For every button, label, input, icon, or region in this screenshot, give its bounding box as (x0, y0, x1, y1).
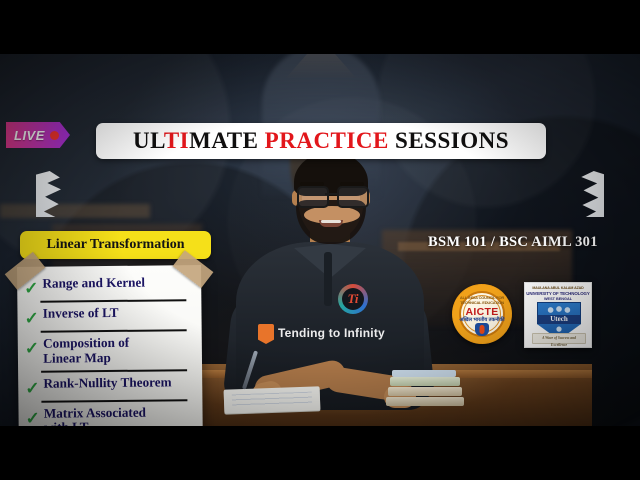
course-code: BSM 101 / BSC AIML 301 (428, 234, 598, 251)
lens-left (297, 186, 329, 208)
notebook (224, 386, 321, 413)
main-title-pill: ULTIMATE PRACTICE SESSIONS (96, 123, 546, 159)
video-frame: Ti Tending to Infinity LIVE ULTIMAT (0, 54, 640, 426)
eyeglasses-icon (294, 186, 368, 204)
glasses-bridge (325, 193, 337, 195)
checklist-note: ✓Range and Kernel✓Inverse of LT✓Composit… (17, 265, 203, 426)
teeth (321, 220, 341, 223)
utech-line-1: MAULANA ABUL KALAM AZAD (525, 286, 591, 290)
checklist-item-label: Composition of Linear Map (43, 336, 129, 366)
book-2 (388, 387, 462, 396)
notebook-lines (232, 392, 312, 409)
checklist-item: ✓Composition of Linear Map (25, 334, 195, 367)
shirt-placket (324, 252, 332, 306)
utech-shield-text: Utech (538, 315, 580, 324)
title-part-2: TI (164, 128, 189, 153)
live-label: LIVE (14, 128, 45, 143)
checklist-divider (41, 329, 187, 333)
checklist-divider (40, 299, 186, 303)
video-thumbnail: Ti Tending to Infinity LIVE ULTIMAT (0, 0, 640, 480)
live-record-dot (50, 131, 59, 140)
utech-line-2: UNIVERSITY OF TECHNOLOGY (525, 291, 591, 296)
topic-label-text: Linear Transformation (46, 237, 184, 253)
aicte-arc-text: ALL INDIA COUNCIL FOR TECHNICAL EDUCATIO… (452, 295, 512, 305)
check-icon: ✓ (25, 379, 39, 396)
main-title: ULTIMATE PRACTICE SESSIONS (133, 128, 509, 154)
wooden-beam (0, 204, 150, 218)
aicte-logo: ALL INDIA COUNCIL FOR TECHNICAL EDUCATIO… (452, 284, 512, 344)
lens-right (337, 186, 369, 208)
title-part-4: PRACTICE (265, 128, 389, 153)
checklist-item-label: Matrix Associated with LT (44, 405, 146, 426)
check-icon: ✓ (24, 280, 38, 297)
checklist-item: ✓Rank-Nullity Theorem (25, 374, 195, 398)
checklist-item-label: Inverse of LT (43, 306, 119, 322)
checklist-divider (41, 399, 187, 403)
book-3 (390, 377, 460, 386)
checklist-item: ✓Matrix Associated with LT (25, 404, 195, 426)
live-badge: LIVE (6, 122, 70, 148)
checklist-divider (41, 369, 187, 373)
checklist-item-label: Range and Kernel (42, 276, 145, 292)
utech-gear-decor (538, 305, 580, 315)
check-icon: ✓ (24, 310, 38, 327)
checklist: ✓Range and Kernel✓Inverse of LT✓Composit… (24, 274, 196, 426)
check-icon: ✓ (25, 340, 39, 357)
check-icon: ✓ (25, 409, 39, 426)
presenter-figure: Ti Tending to Infinity (232, 146, 428, 408)
title-part-1: UL (133, 128, 164, 153)
book-stack (386, 372, 464, 406)
checklist-item-label: Rank-Nullity Theorem (43, 375, 171, 391)
title-part-3: MATE (189, 128, 265, 153)
book-1 (386, 397, 464, 406)
title-part-5: SESSIONS (389, 128, 509, 153)
checklist-item: ✓Inverse of LT (24, 304, 194, 328)
checklist-item: ✓Range and Kernel (24, 274, 194, 298)
aicte-emblem (475, 323, 489, 336)
ti-logo-text: Ti (342, 288, 364, 310)
utech-motto: A Wave of Success and Excellence (534, 335, 584, 342)
utech-line-3: WEST BENGAL (525, 297, 591, 301)
shirt-text: Tending to Infinity (278, 326, 408, 340)
utech-scroll: A Wave of Success and Excellence (532, 333, 586, 344)
book-top (392, 370, 456, 377)
makaut-utech-logo: MAULANA ABUL KALAM AZAD UNIVERSITY OF TE… (524, 282, 592, 348)
ti-circle-logo: Ti (338, 284, 368, 314)
